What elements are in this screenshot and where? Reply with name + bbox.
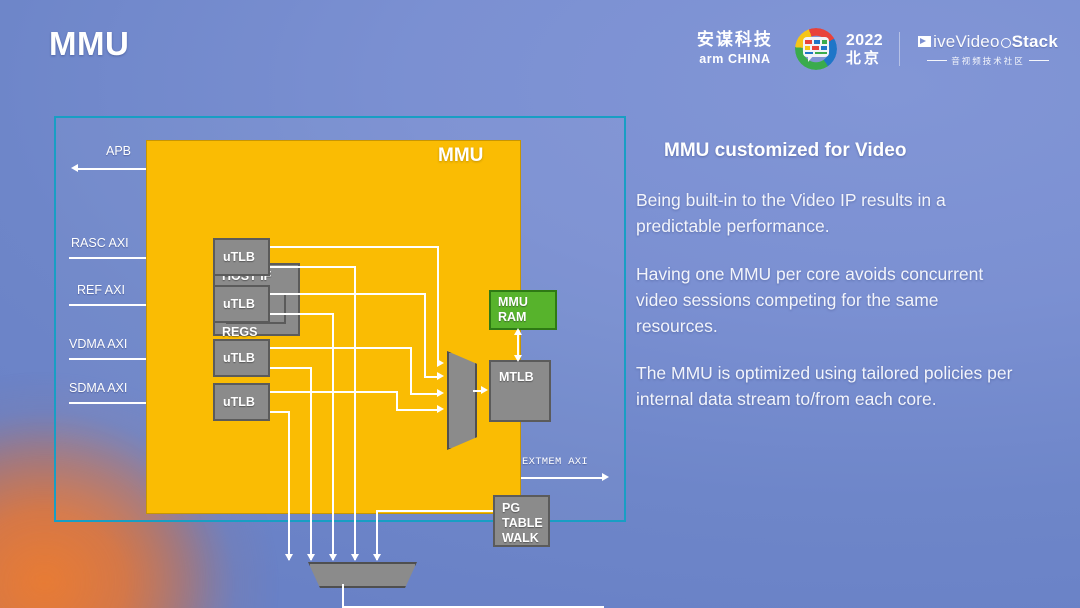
block-utlb-3: uTLB xyxy=(213,339,270,377)
utlb-2-label: uTLB xyxy=(223,297,255,311)
diagram-mmu-title: MMU xyxy=(438,145,483,167)
livevideostack-subtitle: 音视频技术社区 xyxy=(951,55,1025,67)
wire-utlb4-low xyxy=(270,411,290,413)
arm-china-english: arm CHINA xyxy=(699,53,770,66)
panel-paragraph-1: Being built-in to the Video IP results i… xyxy=(636,188,1014,240)
block-diagram: APB RASC AXI REF AXI VDMA AXI SDMA AXI E… xyxy=(54,116,626,522)
wire-pgt-to-mux xyxy=(376,510,493,512)
logo-divider xyxy=(899,32,900,66)
event-city: 北京 xyxy=(846,50,883,67)
play-icon xyxy=(918,36,931,47)
arrow-mux-in-4 xyxy=(437,405,444,413)
wire-utlb3-in xyxy=(410,393,439,395)
wire-utlb1-low-drop xyxy=(354,266,356,560)
port-label-extmem-axi: EXTMEM AXI xyxy=(522,456,588,468)
wire-utlb2-low-drop xyxy=(332,313,334,560)
arm-china-arm-text: arm xyxy=(699,52,724,66)
slide-canvas: MMU 安谋科技 arm CHINA 2022 北京 iveVideoStack… xyxy=(0,0,1080,608)
wire-utlb3-to-mux xyxy=(270,347,412,349)
wire-utlb4-low-drop xyxy=(288,411,290,560)
port-label-vdma-axi: VDMA AXI xyxy=(69,337,127,351)
livevideostack-subtitle-row: 音视频技术社区 xyxy=(927,55,1049,67)
arrow-apb-out xyxy=(71,164,78,172)
wire-mux-out-drop xyxy=(342,584,344,608)
event-year-city: 2022 北京 xyxy=(846,32,883,67)
wire-utlb4-to-mux xyxy=(270,391,398,393)
event-ring-icon xyxy=(795,28,837,70)
lvs-part1: ive xyxy=(933,32,955,52)
page-title: MMU xyxy=(49,25,129,63)
wire-utlb1-drop xyxy=(437,246,439,363)
panel-paragraph-2: Having one MMU per core avoids concurren… xyxy=(636,262,1014,340)
arrow-mux-in-2 xyxy=(437,372,444,380)
subtitle-rule-left xyxy=(927,60,947,61)
host-if-regs-label: REGS xyxy=(222,325,262,339)
event-bubble-bars xyxy=(805,40,827,54)
wire-utlb4-drop xyxy=(396,391,398,409)
wire-utlb2-drop xyxy=(424,293,426,376)
utlb-3-label: uTLB xyxy=(223,351,255,365)
info-panel: MMU customized for Video Being built-in … xyxy=(636,140,1014,435)
wire-utlb3-low xyxy=(270,367,312,369)
event-year: 2022 xyxy=(846,32,883,50)
wire-apb xyxy=(78,168,150,170)
block-pg-table-walk: PG TABLE WALK xyxy=(493,495,550,547)
wire-utlb2-to-mux xyxy=(270,293,426,295)
wire-utlb3-low-drop xyxy=(310,367,312,560)
arrow-bottom-mux-in-4 xyxy=(351,554,359,561)
port-label-sdma-axi: SDMA AXI xyxy=(69,381,127,395)
wire-utlb1-low xyxy=(270,266,356,268)
arrow-mux-in-3 xyxy=(437,389,444,397)
block-mmu-ram: MMU RAM xyxy=(489,290,557,330)
pg-table-walk-label: PG TABLE WALK xyxy=(502,501,548,545)
block-utlb-1: uTLB xyxy=(213,238,270,276)
panel-heading: MMU customized for Video xyxy=(664,140,1014,162)
block-utlb-2: uTLB xyxy=(213,285,270,323)
arm-china-chinese: 安谋科技 xyxy=(697,32,773,49)
port-label-apb: APB xyxy=(106,144,131,158)
arrow-extmem-axi xyxy=(602,473,609,481)
mmu-ram-label: MMU RAM xyxy=(498,295,555,325)
block-utlb-4: uTLB xyxy=(213,383,270,421)
input-mux xyxy=(447,351,477,450)
lvs-dot-icon xyxy=(1001,38,1011,48)
arrow-bottom-mux-in-5 xyxy=(373,554,381,561)
livevideostack-logo: iveVideoStack 音视频技术社区 xyxy=(918,32,1058,67)
wire-utlb2-low xyxy=(270,313,334,315)
wire-pgt-drop xyxy=(376,510,378,560)
arrow-mux-to-mtlb xyxy=(481,386,488,394)
panel-paragraph-3: The MMU is optimized using tailored poli… xyxy=(636,361,1014,413)
arm-china-logo: 安谋科技 arm CHINA xyxy=(697,32,773,66)
lvs-part3: Stack xyxy=(1012,32,1058,52)
block-mtlb: MTLB xyxy=(489,360,551,422)
wire-utlb3-drop xyxy=(410,347,412,393)
arrow-bottom-mux-in-3 xyxy=(329,554,337,561)
arm-china-china-text: CHINA xyxy=(728,52,771,66)
logo-bar: 安谋科技 arm CHINA 2022 北京 iveVideoStack 音视频… xyxy=(697,26,1058,72)
wire-utlb4-in xyxy=(396,409,439,411)
lvs-part2: Video xyxy=(955,32,999,52)
arrow-bottom-mux-in-1 xyxy=(285,554,293,561)
mtlb-label: MTLB xyxy=(499,370,534,384)
utlb-1-label: uTLB xyxy=(223,250,255,264)
port-label-rasc-axi: RASC AXI xyxy=(71,236,129,250)
subtitle-rule-right xyxy=(1029,60,1049,61)
wire-utlb1-to-mux xyxy=(270,246,439,248)
arrow-mtlb-down xyxy=(514,355,522,362)
arrow-mux-in-1 xyxy=(437,359,444,367)
arrow-ram-up xyxy=(514,328,522,335)
utlb-4-label: uTLB xyxy=(223,395,255,409)
arrow-bottom-mux-in-2 xyxy=(307,554,315,561)
livevideostack-wordmark: iveVideoStack xyxy=(918,32,1058,52)
output-mux xyxy=(308,562,417,588)
port-label-ref-axi: REF AXI xyxy=(77,283,125,297)
